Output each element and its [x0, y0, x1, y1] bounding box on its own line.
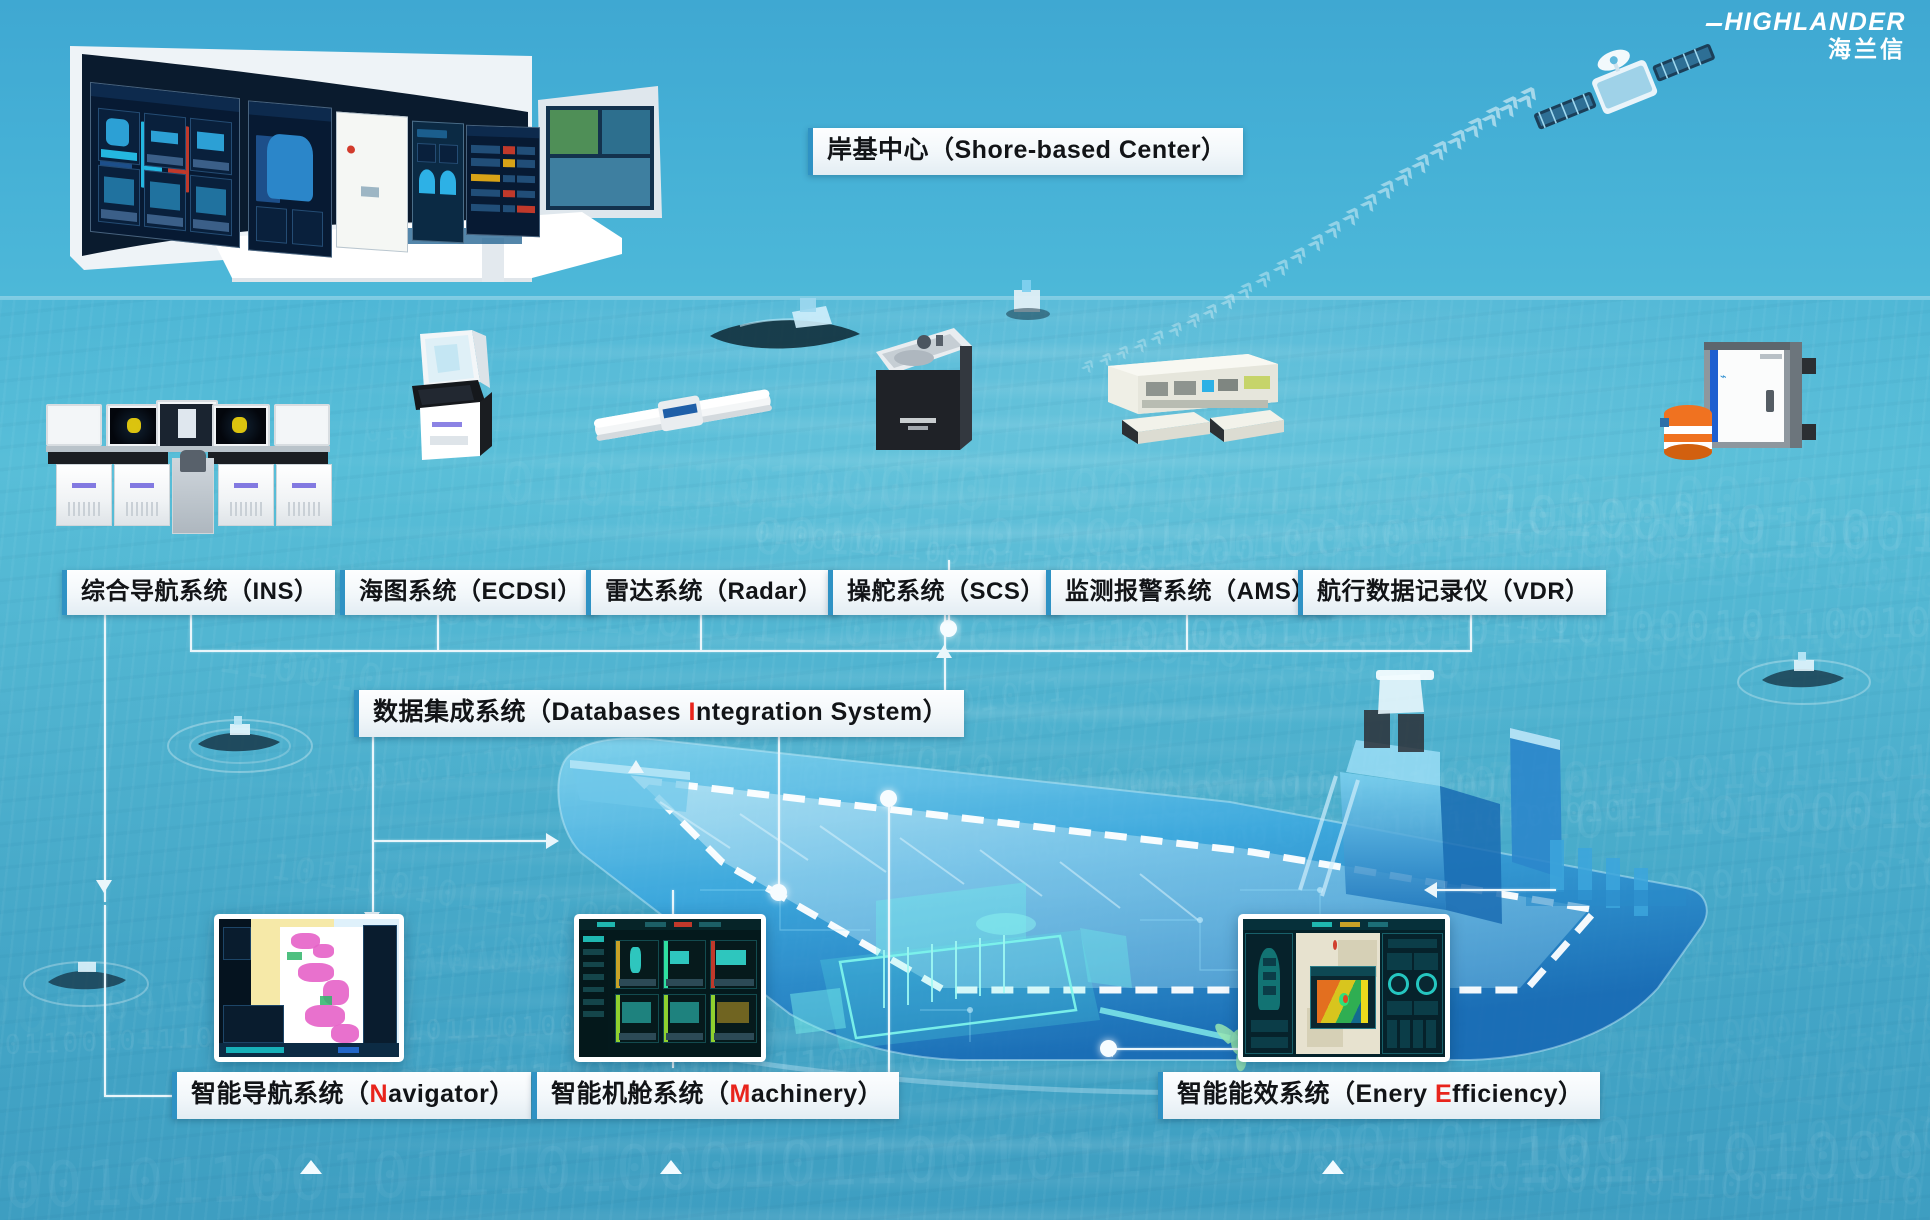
wire-machinery-up: [888, 806, 890, 1076]
label-smart-energy: 智能能效系统（Enery Efficiency）: [1158, 1072, 1600, 1119]
label-integration-system: 数据集成系统（Databases Integration System）: [354, 690, 964, 737]
radar-antenna-icon: [588, 382, 778, 450]
energy-suffix: fficiency）: [1452, 1080, 1583, 1108]
ship-node-propeller: [1100, 1040, 1117, 1057]
wall-panel-1: [90, 82, 240, 248]
wall-panel-2: [248, 100, 332, 257]
label-smart-machinery: 智能机舱系统（Machinery）: [532, 1072, 899, 1119]
satellite-icon: [1520, 28, 1730, 148]
integration-bus-line: [190, 650, 1472, 652]
machinery-prefix: 智能机舱系统（: [551, 1080, 730, 1108]
wall-panel-5: [466, 125, 540, 238]
alarm-module-icon: [1098, 348, 1288, 458]
navigator-prefix: 智能导航系统（: [191, 1080, 370, 1108]
wire-ecdis-down: [437, 612, 439, 650]
wire-navigator-down: [372, 840, 374, 918]
wall-panel-4: [412, 121, 464, 244]
label-system-scs: 操舵系统（SCS）: [828, 570, 1061, 615]
wire-ins-down: [190, 612, 192, 650]
label-system-radar: 雷达系统（Radar）: [586, 570, 839, 615]
ship-node-deck: [770, 884, 787, 901]
arrow-ins-spine: [96, 880, 112, 893]
wire-deck-right: [1436, 889, 1556, 891]
ecdis-chart-screen[interactable]: [214, 914, 404, 1062]
integration-suffix: ntegration System）: [696, 698, 948, 726]
wire-vdr-down: [1470, 612, 1472, 650]
wall-panel-3: [336, 111, 408, 252]
energy-prefix: 智能能效系统（Enery: [1177, 1080, 1435, 1108]
shore-center-video-wall: [62, 42, 682, 282]
small-boat-4: [1730, 640, 1880, 710]
integration-highlight: I: [689, 698, 696, 726]
navigator-highlight: N: [370, 1080, 389, 1108]
ship-node-bridge: [940, 620, 957, 637]
wire-left-spine-lower: [104, 905, 106, 1095]
wire-radar-down: [700, 612, 702, 650]
wire-integration-left-tail: [372, 732, 374, 840]
arrow-deck-right: [1424, 882, 1437, 898]
machinery-dashboard-screen[interactable]: [574, 914, 766, 1062]
navigation-console-icon: [38, 404, 328, 534]
machinery-highlight: M: [730, 1080, 751, 1108]
navigator-suffix: avigator）: [388, 1080, 515, 1108]
machinery-suffix: achinery）: [751, 1080, 883, 1108]
wire-navigator-branch: [372, 840, 550, 842]
integration-prefix: 数据集成系统（Databases: [373, 698, 689, 726]
steering-console-icon: [862, 318, 982, 458]
small-boat-1: [700, 290, 880, 360]
ee-gauge-left: [1388, 973, 1409, 994]
wire-integration-to-ship: [778, 732, 780, 894]
bottom-marker-3: [1322, 1160, 1344, 1174]
arrow-deck-inbound-bottom: [628, 760, 644, 773]
label-shore-center: 岸基中心（Shore-based Center）: [808, 128, 1243, 175]
arrow-navigator-branch: [546, 833, 559, 849]
infographic-canvas: 0100010110010111010001011001011101000101…: [0, 0, 1930, 1220]
energy-highlight: E: [1435, 1080, 1452, 1108]
chart-kiosk-icon: [394, 330, 504, 460]
bottom-marker-1: [300, 1160, 322, 1174]
label-smart-navigator: 智能导航系统（Navigator）: [172, 1072, 531, 1119]
bottom-marker-2: [660, 1160, 682, 1174]
ship-node-engine: [880, 790, 897, 807]
label-system-ins: 综合导航系统（INS）: [62, 570, 335, 615]
label-system-ecdis: 海图系统（ECDSI）: [340, 570, 598, 615]
highlander-logo: HIGHLANDER 海兰信: [1706, 10, 1906, 61]
ee-gauge-right: [1416, 973, 1437, 994]
svg-text:⌁: ⌁: [1720, 370, 1727, 383]
energy-efficiency-screen[interactable]: [1238, 914, 1450, 1062]
label-system-ams: 监测报警系统（AMS）: [1046, 570, 1332, 615]
label-system-vdr: 航行数据记录仪（VDR）: [1298, 570, 1606, 615]
arrow-bus-to-integration: [936, 645, 952, 658]
wire-energy-branch: [1108, 1048, 1240, 1050]
wire-ams-down: [1186, 612, 1188, 650]
vdr-cabinet-icon: ⌁: [1660, 332, 1840, 460]
small-boat-2: [160, 700, 320, 780]
buoy-icon: [1000, 278, 1060, 326]
wire-ins-left-spine: [104, 612, 106, 902]
small-boat-3: [20, 936, 160, 1016]
logo-text-cn: 海兰信: [1706, 38, 1906, 61]
logo-text-en: HIGHLANDER: [1706, 10, 1906, 35]
